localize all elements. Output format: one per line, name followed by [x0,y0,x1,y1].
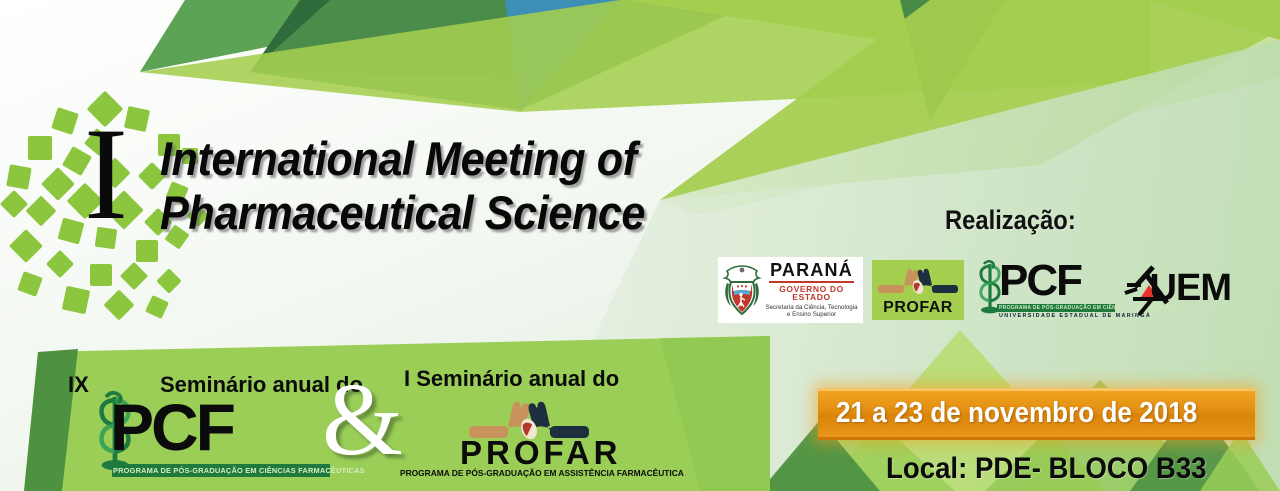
parana-logo: PARANÁ GOVERNO DO ESTADO Secretaria da C… [718,257,863,323]
parana-text-block: PARANÁ GOVERNO DO ESTADO Secretaria da C… [763,261,860,319]
decor-square [136,240,158,262]
title-line-2: Pharmaceutical Science [160,186,645,240]
decor-square [9,229,43,263]
decor-square [17,271,43,297]
ampersand-separator: & [322,368,403,472]
decor-square [156,268,181,293]
event-banner: I International Meeting of Pharmaceutica… [0,0,1280,491]
profar-logo: PROFAR [872,260,964,320]
seminar-profar-acronym: PROFAR [460,436,622,469]
parana-name: PARANÁ [763,261,860,279]
decor-square [145,295,169,319]
page-title: International Meeting of Pharmaceutical … [160,132,645,239]
event-date: 21 a 23 de novembro de 2018 [836,397,1197,430]
decor-square [46,250,74,278]
decor-square [25,195,56,226]
decor-square [120,262,148,290]
seminar-profar-block: I Seminário anual do PROFAR PROGRAMA DE … [400,368,670,488]
profar-wordmark: PROFAR [883,299,953,317]
seminar-pcf-acronym: PCF [110,394,233,460]
uem-wordmark: UEM [1150,269,1231,307]
pcf-wordmark: PCF [999,259,1081,303]
decor-square [62,286,90,314]
realizacao-label: Realização: [945,205,1076,236]
decor-square [90,264,112,286]
decor-square [6,164,31,189]
event-date-band: 21 a 23 de novembro de 2018 [818,388,1255,440]
seminar-profar-heading: I Seminário anual do [404,368,619,390]
parana-department-line-2: e Ensino Superior [763,311,860,319]
pcf-institution: UNIVERSIDADE ESTADUAL DE MARINGÁ [997,312,1115,320]
parana-subtitle: GOVERNO DO ESTADO [763,285,860,302]
seminar-pcf-block: IX Seminário anual do PCF PROGRAMA DE PÓ… [62,372,332,491]
title-line-1: International Meeting of [160,132,645,186]
decor-square [28,136,52,160]
pcf-subtitle: PROGRAMA DE PÓS-GRADUAÇÃO EM CIÊNCIAS FA… [997,304,1115,312]
seminar-pcf-subtitle: PROGRAMA DE PÓS-GRADUAÇÃO EM CIÊNCIAS FA… [112,464,330,477]
event-location: Local: PDE- BLOCO B33 [886,452,1207,486]
seminar-profar-subtitle: PROGRAMA DE PÓS-GRADUAÇÃO EM ASSISTÊNCIA… [400,468,650,478]
decor-square [58,218,85,245]
parana-divider [769,281,854,283]
decor-square [0,190,28,218]
pcf-logo: PCF PROGRAMA DE PÓS-GRADUAÇÃO EM CIÊNCIA… [973,256,1118,324]
parana-coat-of-arms-icon [721,264,763,316]
sponsor-logo-row: PARANÁ GOVERNO DO ESTADO Secretaria da C… [718,256,1231,324]
parana-department-line-1: Secretaria da Ciência, Tecnologia [763,304,860,312]
parana-department: Secretaria da Ciência, Tecnologia e Ensi… [763,304,860,320]
uem-logo: UEM [1127,261,1231,319]
profar-hands-icon [874,265,962,301]
roman-numeral-one: I [84,108,128,240]
decor-square [51,107,79,135]
decor-square [103,289,134,320]
